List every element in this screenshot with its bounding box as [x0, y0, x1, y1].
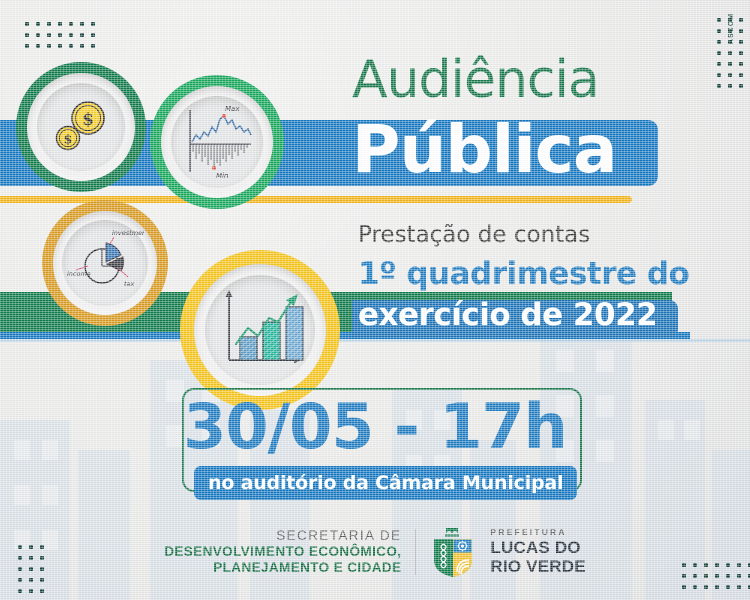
secretaria-line3: PLANEJAMENTO E CIDADE: [164, 560, 401, 576]
coins-icon: $ $: [16, 62, 146, 192]
prefeitura-logo: PREFEITURA LUCAS DO RIO VERDE: [490, 528, 585, 576]
line-chart-glyph: Max Min: [177, 102, 257, 182]
bar-chart-icon: [180, 250, 340, 410]
pie-chart-glyph: investment tax income: [66, 224, 144, 302]
coins-glyph: $ $: [44, 90, 118, 164]
poster-canvas: ASCOM $ $: [0, 0, 750, 600]
svg-text:$: $: [82, 110, 94, 130]
line-chart-icon: Max Min: [150, 75, 284, 209]
svg-text:income: income: [67, 270, 91, 278]
footer-logos: SECRETARIA DE DESENVOLVIMENTO ECONÔMICO,…: [0, 526, 750, 578]
page-title-line1: Audiência: [352, 50, 599, 110]
event-date-time: 30/05 - 17h: [0, 390, 750, 463]
subtitle-kicker: Prestação de contas: [358, 222, 590, 248]
page-title-line2: Pública: [352, 110, 617, 190]
svg-text:tax: tax: [124, 280, 135, 288]
prefeitura-eyebrow: PREFEITURA: [490, 528, 585, 538]
subtitle-line2: exercício de 2022: [358, 297, 657, 333]
event-venue: no auditório da Câmara Municipal: [194, 466, 577, 500]
coat-of-arms-icon: [430, 526, 476, 578]
bar-chart-glyph: [212, 282, 308, 378]
secretaria-line2: DESENVOLVIMENTO ECONÔMICO,: [164, 544, 401, 560]
blue-accent-line-light: [0, 339, 750, 342]
dot-grid-top-left: [25, 22, 95, 48]
secretaria-line1: SECRETARIA DE: [164, 528, 401, 544]
svg-text:Max: Max: [225, 105, 240, 113]
prefeitura-line1: LUCAS DO: [490, 538, 585, 557]
pie-chart-icon: investment tax income: [42, 200, 168, 326]
svg-text:investment: investment: [112, 229, 144, 237]
subtitle-line1: 1º quadrimestre do: [358, 256, 689, 292]
ascom-credit: ASCOM: [728, 13, 735, 44]
secretaria-logo: SECRETARIA DE DESENVOLVIMENTO ECONÔMICO,…: [164, 528, 401, 576]
svg-text:Min: Min: [216, 172, 228, 180]
prefeitura-line2: RIO VERDE: [490, 557, 585, 576]
svg-text:$: $: [64, 132, 73, 147]
footer-divider: [415, 529, 416, 575]
